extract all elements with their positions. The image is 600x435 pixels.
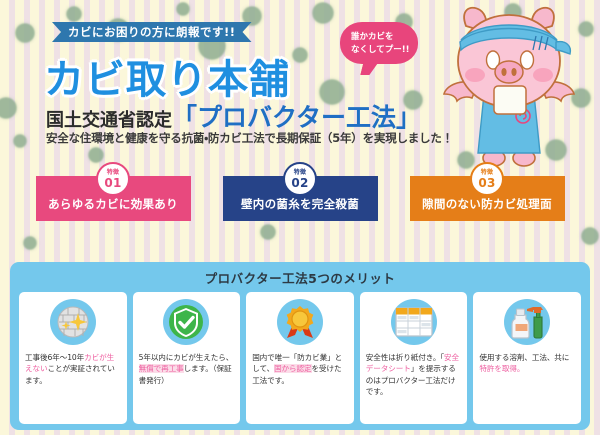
- mold-spot-icon: [0, 98, 16, 118]
- feature-badge-03: 特徴03: [470, 162, 504, 196]
- merit-card[interactable]: 5年以内にカビが生えたら、無償で再工事します。（保証書発行）: [133, 292, 241, 424]
- feature-badge-label: 特徴: [107, 170, 120, 176]
- feature-badge-number: 01: [104, 177, 121, 189]
- merit-description: 使用する溶剤、工法、共に特許を取得。: [479, 352, 575, 375]
- feature-box-01[interactable]: 特徴01あらゆるカビに効果あり: [36, 176, 191, 221]
- feature-badge-01: 特徴01: [96, 162, 130, 196]
- subtitle-certification: 国土交通省認定: [46, 106, 172, 132]
- features-row: 特徴01あらゆるカビに効果あり特徴02壁内の菌糸を完全殺菌特徴03隙間のない防カ…: [0, 176, 600, 221]
- mold-spot-icon: [177, 3, 189, 15]
- merit-text-segment: 安全性は折り紙付き。「: [366, 353, 444, 362]
- merit-text-segment: 使用する溶剤、工法、共に: [479, 353, 569, 362]
- announcement-ribbon: カビにお困りの方に朗報です!!: [52, 22, 252, 42]
- merit-text-segment: 特許を取得。: [479, 364, 524, 373]
- mascot-speech-bubble: 誰かカビを なくしてプー!!: [340, 22, 418, 64]
- feature-label: 隙間のない防カビ処理面: [422, 196, 552, 212]
- merits-panel: プロバクター工法5つのメリット 工事後6年〜10年カビが生えないことが実証されて…: [10, 262, 590, 430]
- feature-badge-number: 02: [291, 177, 308, 189]
- shield-check-icon: [163, 299, 209, 345]
- mold-spot-icon: [89, 148, 103, 162]
- pig-mascot-icon: [420, 0, 598, 173]
- feature-badge-number: 03: [478, 177, 495, 189]
- merit-text-segment: 5年以内にカビが生えたら、: [139, 353, 234, 362]
- brick-wall-sparkle-icon: [50, 299, 96, 345]
- feature-box-03[interactable]: 特徴03隙間のない防カビ処理面: [410, 176, 565, 221]
- promo-page: カビにお困りの方に朗報です!! カビ取り本舗 国土交通省認定 「プロバクター工法…: [0, 0, 600, 435]
- mold-spot-icon: [16, 24, 34, 42]
- mold-spot-icon: [582, 228, 598, 244]
- mold-spot-icon: [67, 7, 81, 21]
- merit-card[interactable]: 国内で唯一「防カビ業」として、国から認定を受けた工法です。: [246, 292, 354, 424]
- subtitle-method-name: 「プロバクター工法」: [172, 98, 421, 134]
- spray-bottle-icon: [504, 299, 550, 345]
- page-title: カビ取り本舗: [44, 47, 290, 105]
- feature-label: 壁内の菌糸を完全殺菌: [241, 196, 359, 212]
- feature-label: あらゆるカビに効果あり: [48, 196, 178, 212]
- merit-description: 安全性は折り紙付き。「安全データシート」を提示するのはプロバクター工法だけです。: [366, 352, 462, 398]
- mold-spot-icon: [261, 225, 275, 239]
- merit-description: 工事後6年〜10年カビが生えないことが実証されています。: [25, 352, 121, 386]
- feature-box-02[interactable]: 特徴02壁内の菌糸を完全殺菌: [223, 176, 378, 221]
- mold-spot-icon: [293, 48, 307, 62]
- gold-medal-icon: [277, 299, 323, 345]
- feature-badge-label: 特徴: [481, 170, 494, 176]
- feature-badge-label: 特徴: [294, 170, 307, 176]
- merit-text-segment: 工事後6年〜10年: [25, 353, 84, 362]
- data-sheet-icon: [391, 299, 437, 345]
- mold-spot-icon: [24, 237, 36, 249]
- feature-badge-02: 特徴02: [283, 162, 317, 196]
- speech-line-2: なくしてプー!!: [351, 44, 418, 57]
- merit-text-segment: 無償で再工事: [139, 364, 184, 373]
- lead-description: 安全な住環境と健康を守る抗菌・防カビ工法で長期保証（5年）を実現しました！: [46, 130, 453, 146]
- subtitle: 国土交通省認定 「プロバクター工法」: [46, 98, 421, 134]
- speech-line-1: 誰かカビを: [351, 31, 418, 44]
- merit-card[interactable]: 安全性は折り紙付き。「安全データシート」を提示するのはプロバクター工法だけです。: [360, 292, 468, 424]
- merit-description: 5年以内にカビが生えたら、無償で再工事します。（保証書発行）: [139, 352, 235, 386]
- merit-card[interactable]: 工事後6年〜10年カビが生えないことが実証されています。: [19, 292, 127, 424]
- merit-card[interactable]: 使用する溶剤、工法、共に特許を取得。: [473, 292, 581, 424]
- merits-title: プロバクター工法5つのメリット: [19, 268, 581, 292]
- mold-spot-icon: [313, 3, 333, 23]
- merit-text-segment: 国から認定: [274, 364, 311, 373]
- mold-spot-icon: [14, 135, 26, 147]
- merits-grid: 工事後6年〜10年カビが生えないことが実証されています。5年以内にカビが生えたら…: [19, 292, 581, 424]
- merit-description: 国内で唯一「防カビ業」として、国から認定を受けた工法です。: [252, 352, 348, 386]
